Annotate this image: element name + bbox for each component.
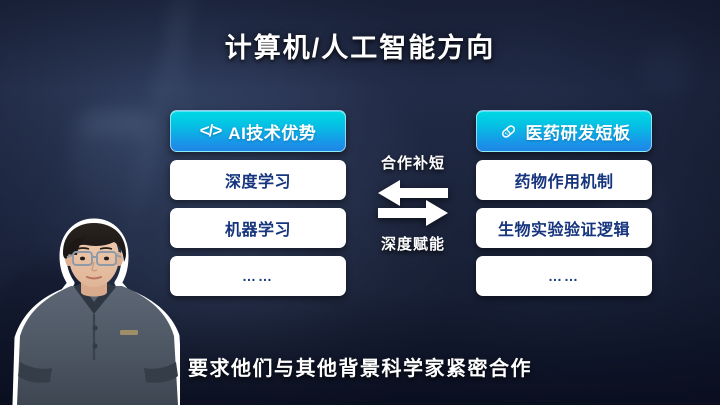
right-column-item: ……	[476, 256, 652, 296]
presenter-video-cutout	[8, 210, 180, 405]
left-column-header-label: AI技术优势	[228, 119, 316, 144]
right-column-header: 医药研发短板	[476, 110, 652, 152]
right-column-item: 药物作用机制	[476, 160, 652, 200]
left-column-item: 机器学习	[170, 208, 346, 248]
left-column: </> AI技术优势 深度学习 机器学习 ……	[170, 110, 346, 296]
right-column-header-label: 医药研发短板	[526, 119, 631, 144]
right-column-item: 生物实验验证逻辑	[476, 208, 652, 248]
left-column-item: 深度学习	[170, 160, 346, 200]
pill-capsule-icon	[498, 121, 519, 142]
bidirectional-exchange-arrows-icon	[374, 178, 452, 228]
center-exchange-group: 合作补短 深度赋能	[352, 152, 474, 254]
center-top-label: 合作补短	[381, 152, 445, 173]
left-column-item: ……	[170, 256, 346, 296]
center-bottom-label: 深度赋能	[381, 233, 445, 254]
presentation-slide: 计算机/人工智能方向 </> AI技术优势 深度学习 机器学习 …… 合作补短 …	[0, 0, 720, 405]
right-column: 医药研发短板 药物作用机制 生物实验验证逻辑 ……	[476, 110, 652, 296]
left-column-header: </> AI技术优势	[170, 110, 346, 152]
slide-title: 计算机/人工智能方向	[0, 26, 720, 65]
